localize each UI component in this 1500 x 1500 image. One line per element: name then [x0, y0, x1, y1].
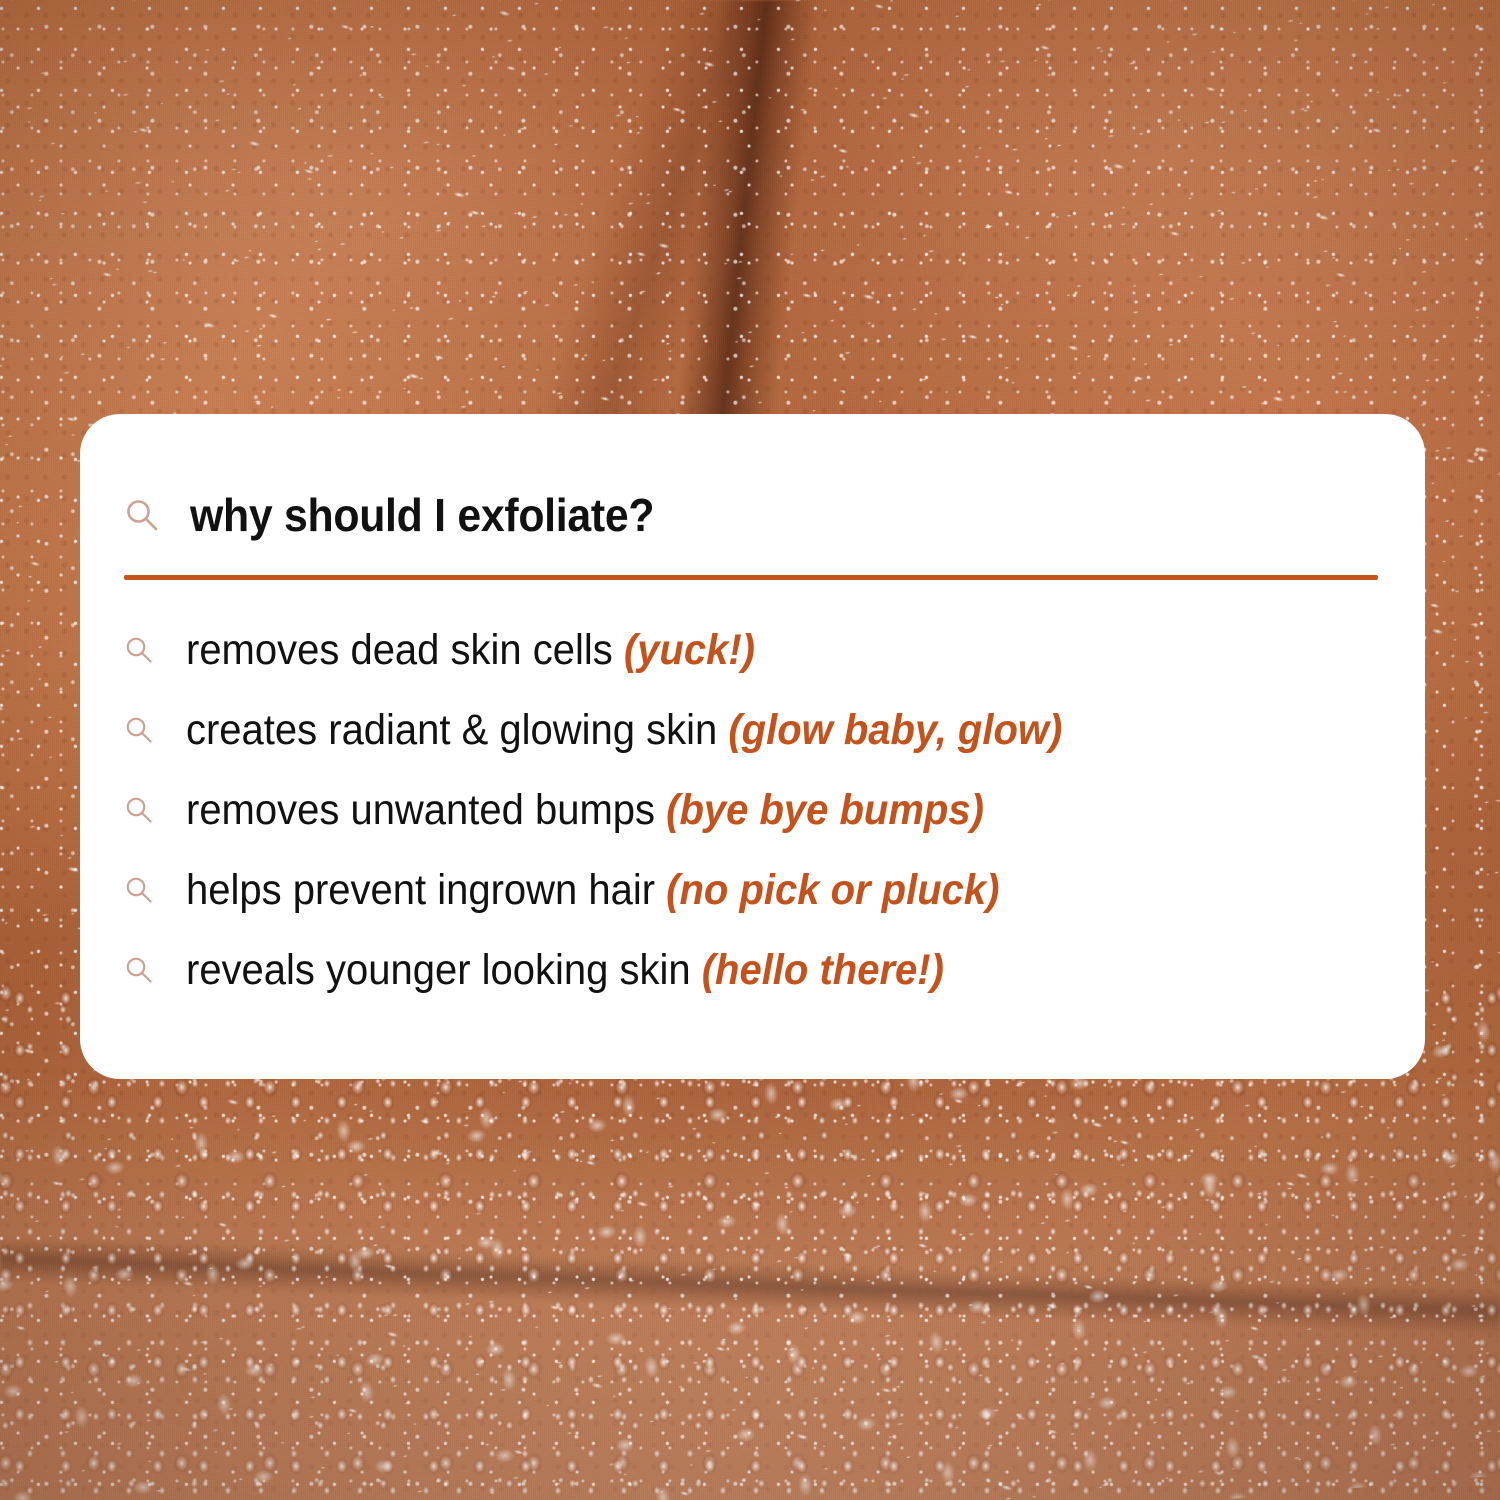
list-item-highlight: (bye bye bumps): [666, 786, 984, 834]
list-item-text: helps prevent ingrown hair (no pick or p…: [186, 869, 999, 912]
benefit-list: removes dead skin cells (yuck!) creates …: [124, 610, 1395, 1010]
list-item-highlight: (yuck!): [624, 626, 755, 674]
search-icon: [124, 795, 154, 825]
list-item: removes unwanted bumps (bye bye bumps): [124, 770, 1395, 850]
list-item-label: removes dead skin cells: [186, 626, 624, 674]
card-header: why should I exfoliate?: [124, 492, 689, 538]
header-divider: [124, 575, 1378, 580]
list-item-text: creates radiant & glowing skin (glow bab…: [186, 709, 1062, 752]
list-item-label: removes unwanted bumps: [186, 786, 666, 834]
search-icon: [124, 497, 160, 533]
list-item: removes dead skin cells (yuck!): [124, 610, 1395, 690]
list-item-label: helps prevent ingrown hair: [186, 866, 666, 914]
list-item-highlight: (hello there!): [702, 946, 944, 994]
promo-image: why should I exfoliate? removes dead ski…: [0, 0, 1500, 1500]
list-item-text: removes unwanted bumps (bye bye bumps): [186, 789, 984, 832]
search-icon: [124, 635, 154, 665]
list-item-text: reveals younger looking skin (hello ther…: [186, 949, 944, 992]
list-item-label: reveals younger looking skin: [186, 946, 702, 994]
info-card: why should I exfoliate? removes dead ski…: [80, 414, 1425, 1079]
page-title: why should I exfoliate?: [190, 492, 654, 538]
list-item: helps prevent ingrown hair (no pick or p…: [124, 850, 1395, 930]
list-item-highlight: (glow baby, glow): [728, 706, 1062, 754]
list-item-highlight: (no pick or pluck): [666, 866, 999, 914]
search-icon: [124, 955, 154, 985]
list-item: creates radiant & glowing skin (glow bab…: [124, 690, 1395, 770]
search-icon: [124, 715, 154, 745]
list-item-label: creates radiant & glowing skin: [186, 706, 728, 754]
list-item-text: removes dead skin cells (yuck!): [186, 629, 755, 672]
list-item: reveals younger looking skin (hello ther…: [124, 930, 1395, 1010]
search-icon: [124, 875, 154, 905]
